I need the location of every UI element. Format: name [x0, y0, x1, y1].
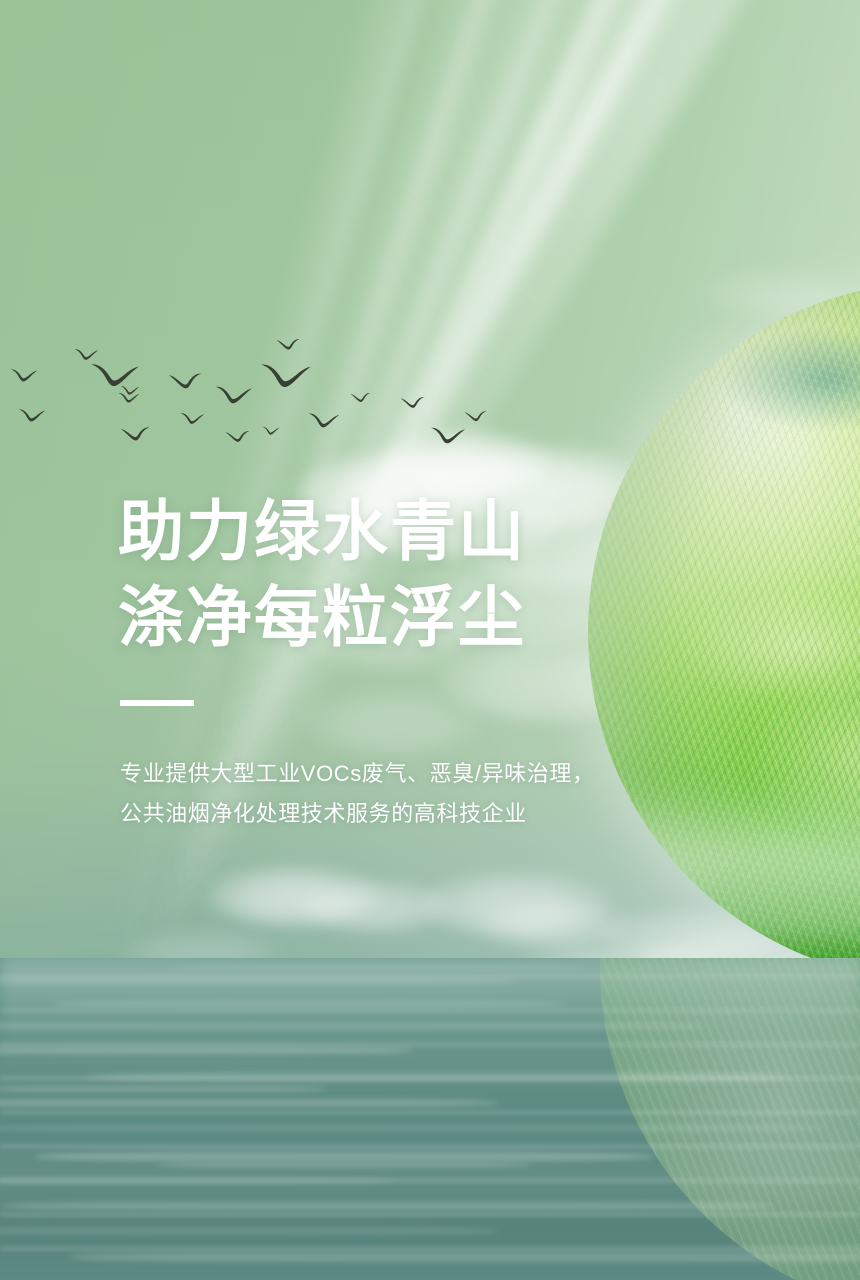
bird-icon: [400, 396, 425, 410]
bird-icon: [430, 426, 466, 446]
bird-icon: [215, 385, 253, 406]
bird-icon: [120, 385, 140, 396]
bird-icon: [120, 426, 150, 443]
page-title-line-2: 涤净每粒浮尘: [118, 574, 758, 660]
eco-hero-banner: 助力绿水青山 涤净每粒浮尘 专业提供大型工业VOCs废气、恶臭/异味治理， 公共…: [0, 0, 860, 1280]
bird-icon: [276, 338, 300, 351]
bird-icon: [74, 348, 99, 362]
page-title-line-1: 助力绿水青山: [118, 488, 758, 574]
bird-icon: [260, 362, 312, 391]
hero-subtitle: 专业提供大型工业VOCs废气、恶臭/异味治理， 公共油烟净化处理技术服务的高科技…: [120, 754, 758, 834]
wave-highlight: [0, 1124, 826, 1132]
wave-highlight: [0, 1200, 774, 1212]
bird-icon: [225, 430, 250, 444]
bird-icon: [464, 410, 487, 423]
water-horizon-haze: [0, 958, 860, 1088]
bird-icon: [262, 426, 280, 436]
water-surface: [0, 958, 860, 1280]
bird-icon: [350, 392, 371, 403]
bird-icon: [180, 412, 205, 426]
bird-icon: [308, 412, 340, 430]
hero-copy: 助力绿水青山 涤净每粒浮尘 专业提供大型工业VOCs废气、恶臭/异味治理， 公共…: [118, 488, 758, 834]
wave-highlight: [155, 1162, 533, 1168]
bird-icon: [168, 372, 202, 391]
subtitle-line-1: 专业提供大型工业VOCs废气、恶臭/异味治理，: [120, 754, 758, 794]
bird-icon: [10, 368, 38, 383]
subtitle-line-2: 公共油烟净化处理技术服务的高科技企业: [120, 794, 758, 834]
bird-icon: [18, 408, 46, 423]
divider-rule: [120, 700, 194, 706]
